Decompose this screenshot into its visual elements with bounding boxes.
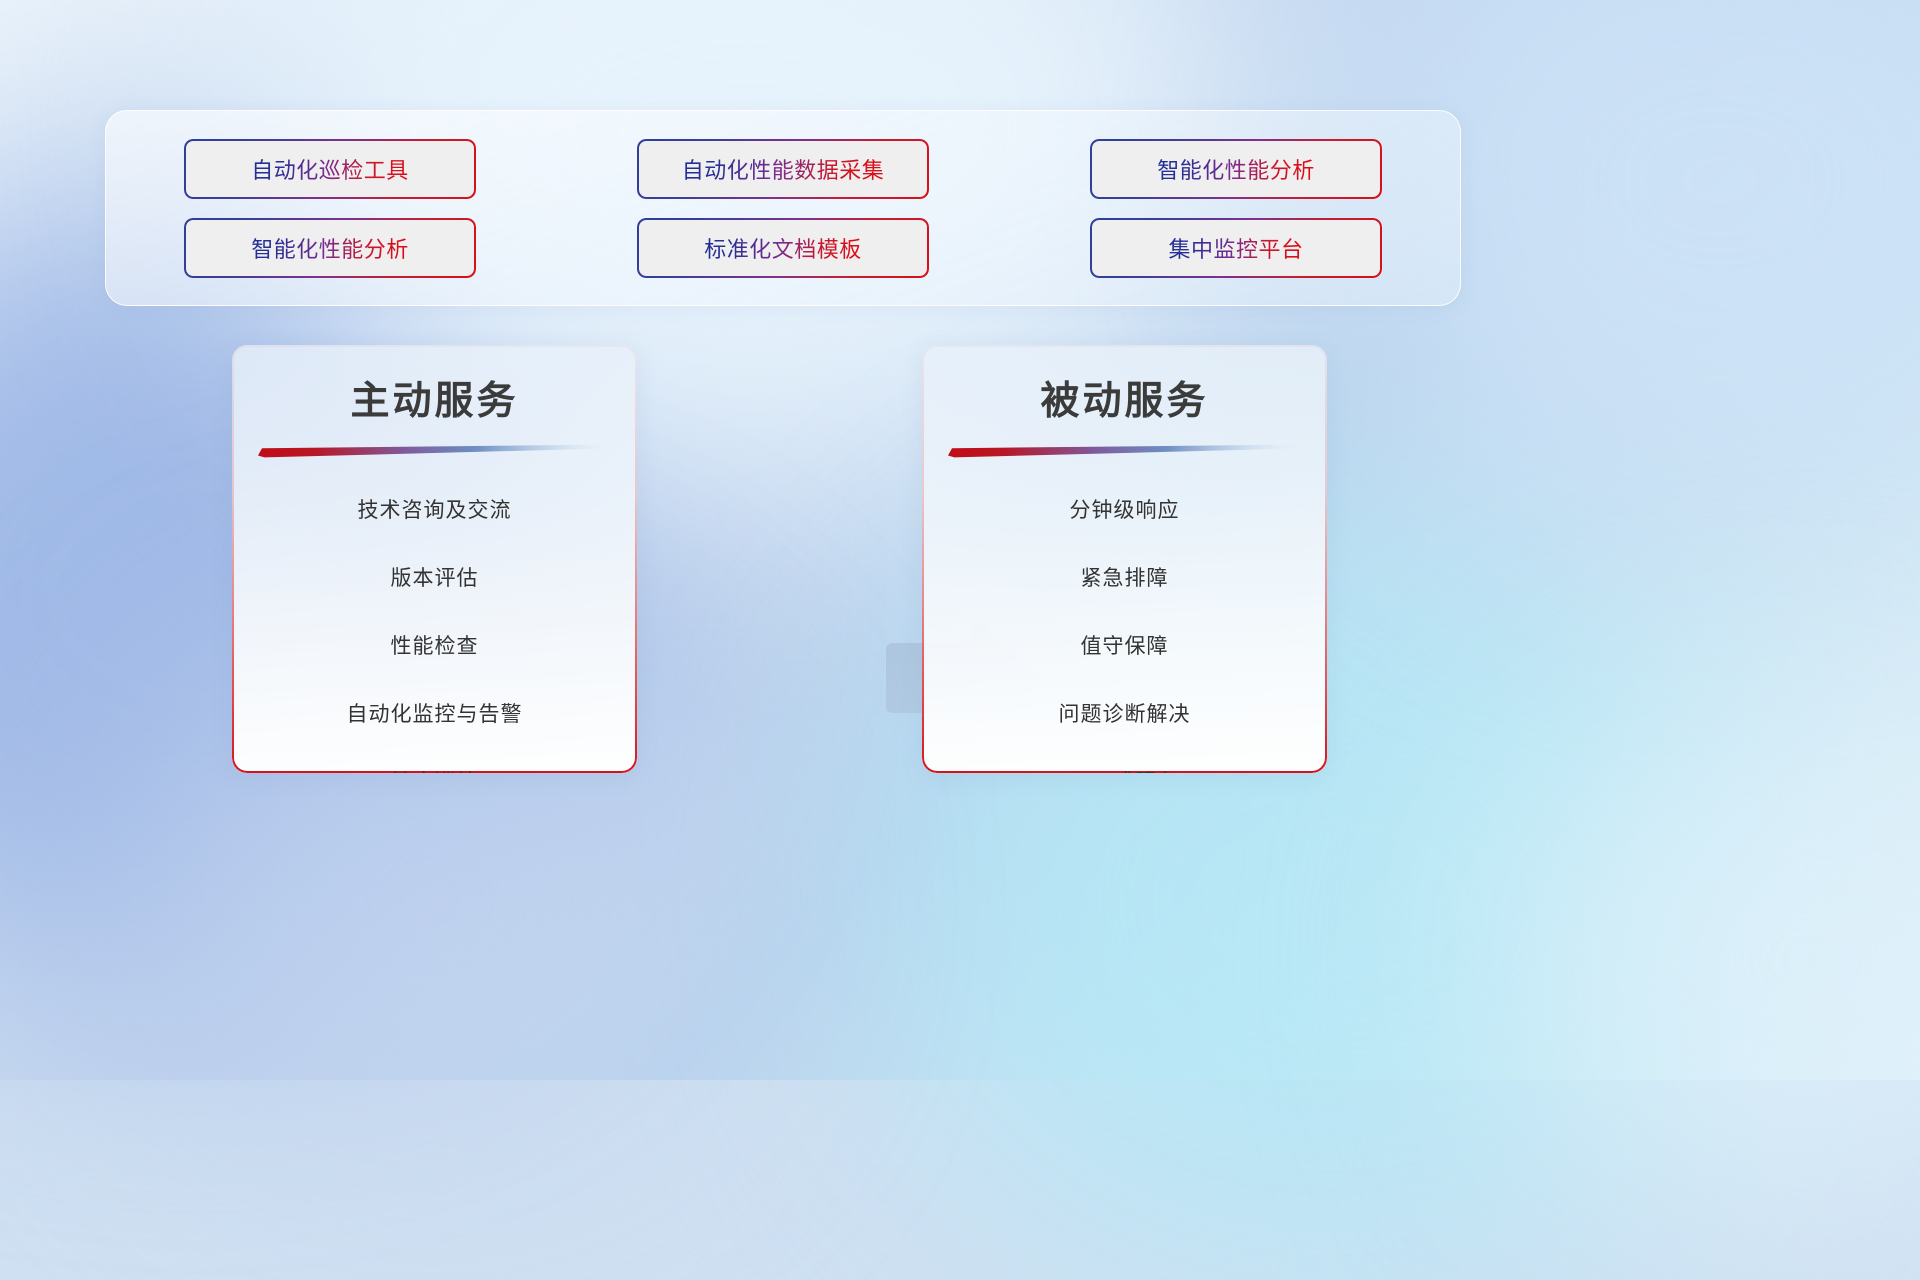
capability-chip-label: 标准化文档模板	[704, 232, 862, 264]
list-item[interactable]: 紧急排障	[922, 556, 1327, 601]
list-item[interactable]: 自动化监控与告警	[232, 692, 637, 737]
capability-chip-6[interactable]: 集中监控平台	[1090, 218, 1382, 278]
capability-chip-5[interactable]: 标准化文档模板	[637, 218, 929, 278]
list-item[interactable]: 值守保障	[922, 624, 1327, 669]
list-item[interactable]: 版本评估	[232, 556, 637, 601]
list-item[interactable]: 分钟级响应	[922, 488, 1327, 533]
list-item[interactable]: 性能检查	[232, 624, 637, 669]
card-title: 主动服务	[232, 370, 637, 426]
capability-row-1: 自动化巡检工具 自动化性能数据采集 智能化性能分析	[184, 139, 1382, 199]
service-card-proactive[interactable]: 主动服务 技术咨询及交流 版本评估 性能检查 自动化监控与告警 健康巡检	[232, 345, 637, 773]
list-item[interactable]: SLA式服务	[922, 760, 1327, 773]
list-item[interactable]: 技术咨询及交流	[232, 488, 637, 533]
divider-icon	[948, 444, 1301, 458]
capability-chip-label: 自动化性能数据采集	[682, 153, 885, 185]
capability-row-2: 智能化性能分析 标准化文档模板 集中监控平台	[184, 218, 1382, 278]
capability-panel: 自动化巡检工具 自动化性能数据采集 智能化性能分析 智能化性能分析 标准化文档模…	[105, 110, 1461, 306]
list-item[interactable]: 健康巡检	[232, 760, 637, 773]
capability-chip-label: 集中监控平台	[1168, 232, 1303, 264]
capability-chip-4[interactable]: 智能化性能分析	[184, 218, 476, 278]
capability-chip-1[interactable]: 自动化巡检工具	[184, 139, 476, 199]
capability-chip-2[interactable]: 自动化性能数据采集	[637, 139, 929, 199]
capability-chip-label: 智能化性能分析	[251, 232, 409, 264]
divider-icon	[258, 444, 611, 458]
card-item-list: 技术咨询及交流 版本评估 性能检查 自动化监控与告警 健康巡检	[232, 488, 637, 773]
card-title: 被动服务	[922, 370, 1327, 426]
capability-chip-label: 自动化巡检工具	[251, 153, 409, 185]
card-item-list: 分钟级响应 紧急排障 值守保障 问题诊断解决 SLA式服务	[922, 488, 1327, 773]
capability-chip-3[interactable]: 智能化性能分析	[1090, 139, 1382, 199]
card-divider	[948, 444, 1301, 458]
capability-chip-label: 智能化性能分析	[1157, 153, 1315, 185]
card-divider	[258, 444, 611, 458]
service-card-reactive[interactable]: 被动服务 分钟级响应 紧急排障 值守保障 问题诊断解决 SLA式服务	[922, 345, 1327, 773]
list-item[interactable]: 问题诊断解决	[922, 692, 1327, 737]
